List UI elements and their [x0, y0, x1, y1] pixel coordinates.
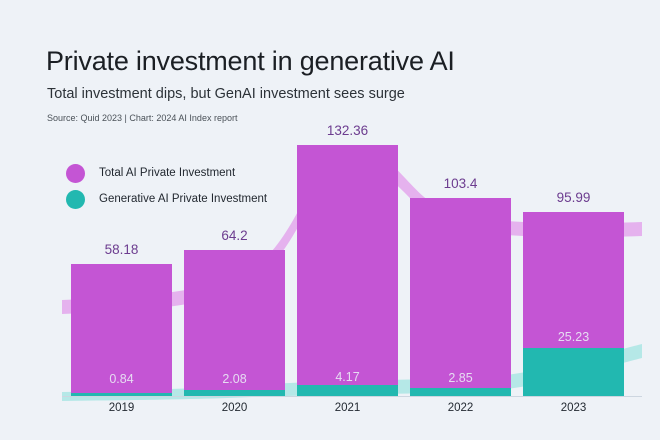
bar-group-2020[interactable]: 64.2 2.08 2020: [184, 250, 285, 396]
bar-group-2023[interactable]: 95.99 25.23 2023: [523, 212, 624, 396]
bar-group-2021[interactable]: 132.36 4.17 2021: [297, 145, 398, 396]
bar-group-2022[interactable]: 103.4 2.85 2022: [410, 198, 511, 396]
bar-genai-2023: [523, 348, 624, 396]
value-label-genai-2022: 2.85: [410, 371, 511, 385]
x-tick-2019: 2019: [71, 402, 172, 414]
x-tick-2020: 2020: [184, 402, 285, 414]
x-axis-line: [62, 396, 642, 397]
value-label-genai-2023: 25.23: [523, 330, 624, 344]
x-tick-2023: 2023: [523, 402, 624, 414]
value-label-genai-2021: 4.17: [297, 370, 398, 384]
value-label-total-2021: 132.36: [297, 123, 398, 138]
bar-total-2021: [297, 145, 398, 396]
value-label-genai-2020: 2.08: [184, 372, 285, 386]
bar-group-2019[interactable]: 58.18 0.84 2019: [71, 264, 172, 396]
value-label-genai-2019: 0.84: [71, 372, 172, 386]
x-tick-2021: 2021: [297, 402, 398, 414]
value-label-total-2023: 95.99: [523, 190, 624, 205]
bar-total-2022: [410, 198, 511, 396]
value-label-total-2019: 58.18: [71, 242, 172, 257]
x-tick-2022: 2022: [410, 402, 511, 414]
bar-genai-2021: [297, 385, 398, 396]
chart-canvas: Private investment in generative AI Tota…: [0, 0, 660, 440]
value-label-total-2022: 103.4: [410, 176, 511, 191]
value-label-total-2020: 64.2: [184, 228, 285, 243]
bar-genai-2022: [410, 388, 511, 396]
plot-area: Total investment (in billions of U.S. do…: [0, 0, 660, 440]
